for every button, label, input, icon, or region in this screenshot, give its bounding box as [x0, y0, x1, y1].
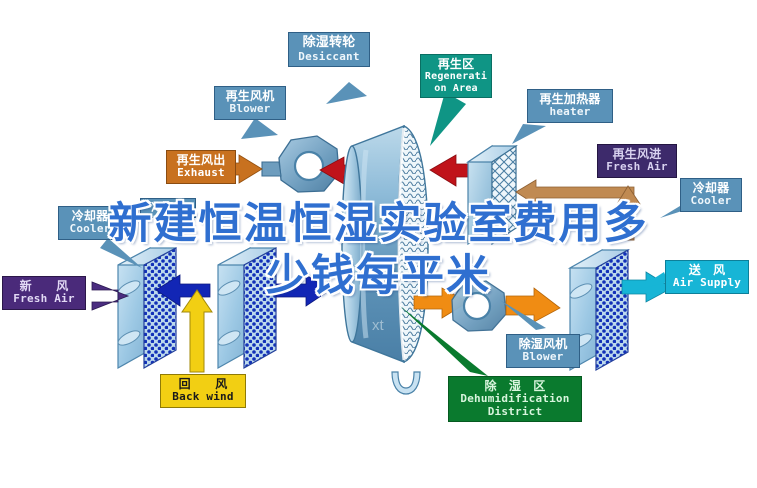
label-regeneration-area[interactable]: 再生区 Regenerati on Area [420, 54, 492, 98]
label-air-supply[interactable]: 送 风 Air Supply [665, 260, 749, 294]
regeneration-heater-coil [468, 146, 516, 244]
label-regeneration-exhaust[interactable]: 再生风出 Exhaust [166, 150, 236, 184]
label-back-wind[interactable]: 回 风 Back wind [160, 374, 246, 408]
label-desiccant-rotor[interactable]: 除湿转轮 Desiccant [288, 32, 370, 67]
label-regeneration-blower[interactable]: 再生风机 Blower [214, 86, 286, 120]
supply-fan [452, 281, 506, 331]
heater-inlet-arrow [516, 180, 634, 205]
label-cooler-left-outer[interactable]: 冷却器 Cooler [58, 206, 122, 240]
pre-cooling-coil-1 [116, 248, 176, 368]
diagram-canvas: xt [0, 0, 757, 488]
schematic-illustration: xt [0, 0, 757, 488]
pre-cooling-coil-2 [216, 248, 276, 368]
back-wind-arrow [182, 290, 212, 372]
label-cooler-left-inner[interactable]: 冷却器 [140, 198, 196, 218]
desiccant-wheel: xt [342, 126, 428, 394]
process-air-arrow-2 [276, 275, 330, 306]
label-fresh-air-in[interactable]: 新 风 Fresh Air [2, 276, 86, 310]
regeneration-fan [262, 136, 339, 192]
blower-outlet-arrow [506, 288, 560, 322]
label-dehumidification-blower[interactable]: 除湿风机 Blower [506, 334, 580, 368]
svg-text:xt: xt [372, 317, 385, 334]
label-regeneration-heater[interactable]: 再生加热器 heater [527, 89, 613, 123]
label-cooler-right[interactable]: 冷却器 Cooler [680, 178, 742, 212]
label-regeneration-fresh-air-in[interactable]: 再生风进 Fresh Air [597, 144, 677, 178]
label-dehumidification-district[interactable]: 除 湿 区 Dehumidification District [448, 376, 582, 422]
